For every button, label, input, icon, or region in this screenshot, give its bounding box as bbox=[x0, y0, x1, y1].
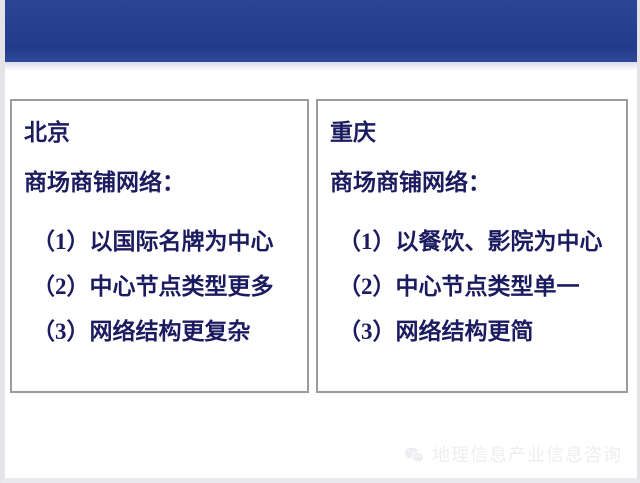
header-underline bbox=[0, 62, 640, 70]
list-item: （3）网络结构更简 bbox=[338, 309, 603, 354]
panel-subtitle: 商场商铺网络： bbox=[330, 169, 491, 197]
slide-canvas: 商铺间网络分析 北京 商场商铺网络： （1）以国际名牌为中心 （2）中心节点类型… bbox=[0, 0, 640, 483]
header-gradient bbox=[0, 0, 640, 62]
panel-item-list: （1）以国际名牌为中心 （2）中心节点类型更多 （3）网络结构更复杂 bbox=[32, 219, 274, 354]
watermark: 地理信息产业信息咨询 bbox=[403, 444, 622, 466]
list-item: （2）中心节点类型单一 bbox=[338, 264, 603, 309]
list-item: （1）以国际名牌为中心 bbox=[32, 219, 274, 264]
panel-beijing: 北京 商场商铺网络： （1）以国际名牌为中心 （2）中心节点类型更多 （3）网络… bbox=[10, 99, 309, 393]
list-item: （3）网络结构更复杂 bbox=[32, 309, 274, 354]
panel-city-name: 重庆 bbox=[330, 119, 376, 147]
watermark-text: 地理信息产业信息咨询 bbox=[432, 444, 622, 466]
list-item: （1）以餐饮、影院为中心 bbox=[338, 219, 603, 264]
panel-subtitle: 商场商铺网络： bbox=[24, 169, 185, 197]
list-item: （2）中心节点类型更多 bbox=[32, 264, 274, 309]
panel-item-list: （1）以餐饮、影院为中心 （2）中心节点类型单一 （3）网络结构更简 bbox=[338, 219, 603, 354]
header-bar bbox=[0, 0, 640, 62]
panel-chongqing: 重庆 商场商铺网络： （1）以餐饮、影院为中心 （2）中心节点类型单一 （3）网… bbox=[316, 99, 628, 393]
wechat-icon bbox=[403, 444, 425, 466]
panel-city-name: 北京 bbox=[24, 119, 70, 147]
